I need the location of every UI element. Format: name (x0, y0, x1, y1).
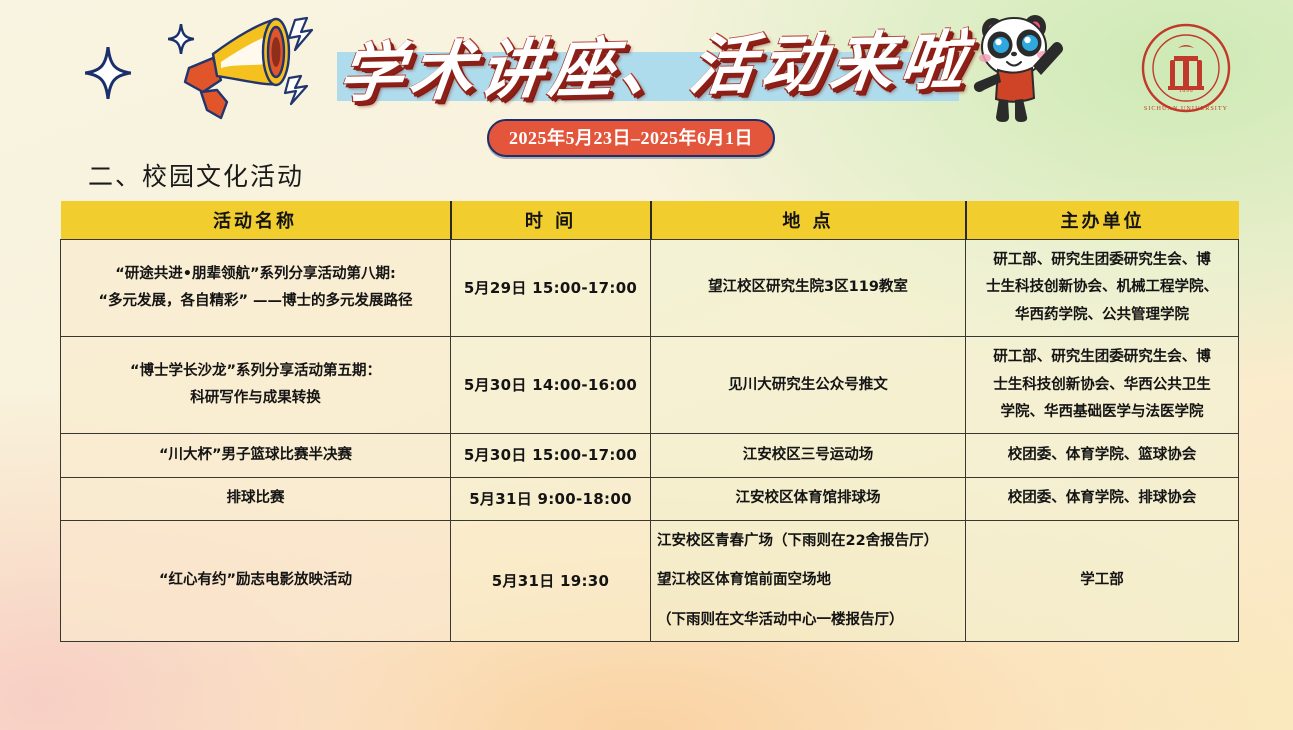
megaphone-icon (155, 6, 345, 126)
table-head: 活动名称 时 间 地 点 主办单位 (61, 201, 1239, 240)
activity-table-wrapper: 活动名称 时 间 地 点 主办单位 “研途共进•朋辈领航”系列分享活动第八期:“… (60, 201, 1238, 642)
activity-table: 活动名称 时 间 地 点 主办单位 “研途共进•朋辈领航”系列分享活动第八期:“… (60, 201, 1239, 642)
cell-activity-name: “川大杯”男子篮球比赛半决赛 (61, 434, 451, 477)
cell-organizer: 研工部、研究生团委研究生会、博士生科技创新协会、机械工程学院、华西药学院、公共管… (966, 240, 1239, 337)
column-header-activity-name: 活动名称 (61, 201, 451, 240)
poster-title: 学术讲座、活动来啦 (340, 22, 960, 114)
column-header-location: 地 点 (651, 201, 966, 240)
poster-page: 1896 SICHUAN UNIVERSITY 学术讲座、活动来啦 2025年5… (0, 0, 1293, 730)
cell-organizer: 校团委、体育学院、排球协会 (966, 477, 1239, 520)
table-body: “研途共进•朋辈领航”系列分享活动第八期:“多元发展，各自精彩” ——博士的多元… (61, 240, 1239, 642)
date-range-badge: 2025年5月23日–2025年6月1日 (487, 119, 775, 157)
table-row: 排球比赛5月31日 9:00-18:00江安校区体育馆排球场校团委、体育学院、排… (61, 477, 1239, 520)
cell-activity-name: “博士学长沙龙”系列分享活动第五期：科研写作与成果转换 (61, 337, 451, 434)
cell-activity-name: “研途共进•朋辈领航”系列分享活动第八期:“多元发展，各自精彩” ——博士的多元… (61, 240, 451, 337)
poster-title-text: 学术讲座、活动来啦 (334, 16, 967, 121)
cell-time: 5月30日 15:00-17:00 (451, 434, 651, 477)
cell-organizer: 校团委、体育学院、篮球协会 (966, 434, 1239, 477)
table-row: “川大杯”男子篮球比赛半决赛5月30日 15:00-17:00江安校区三号运动场… (61, 434, 1239, 477)
cell-organizer: 研工部、研究生团委研究生会、博士生科技创新协会、华西公共卫生学院、华西基础医学与… (966, 337, 1239, 434)
table-row: “博士学长沙龙”系列分享活动第五期：科研写作与成果转换5月30日 14:00-1… (61, 337, 1239, 434)
sichuan-university-logo: 1896 SICHUAN UNIVERSITY (1140, 22, 1232, 114)
table-row: “红心有约”励志电影放映活动5月31日 19:30江安校区青春广场（下雨则在22… (61, 520, 1239, 641)
column-header-time: 时 间 (451, 201, 651, 240)
table-header-row: 活动名称 时 间 地 点 主办单位 (61, 201, 1239, 240)
cell-location: 望江校区研究生院3区119教室 (651, 240, 966, 337)
column-header-organizer: 主办单位 (966, 201, 1239, 240)
cell-time: 5月31日 19:30 (451, 520, 651, 641)
cell-time: 5月29日 15:00-17:00 (451, 240, 651, 337)
svg-text:SICHUAN UNIVERSITY: SICHUAN UNIVERSITY (1144, 105, 1228, 112)
cell-activity-name: 排球比赛 (61, 477, 451, 520)
sparkle-star-icon (85, 47, 131, 99)
cell-location: 江安校区体育馆排球场 (651, 477, 966, 520)
cell-time: 5月30日 14:00-16:00 (451, 337, 651, 434)
cell-location: 见川大研究生公众号推文 (651, 337, 966, 434)
cell-location: 江安校区三号运动场 (651, 434, 966, 477)
cell-organizer: 学工部 (966, 520, 1239, 641)
cell-activity-name: “红心有约”励志电影放映活动 (61, 520, 451, 641)
cell-location: 江安校区青春广场（下雨则在22舍报告厅）望江校区体育馆前面空场地（下雨则在文华活… (651, 520, 966, 641)
cell-time: 5月31日 9:00-18:00 (451, 477, 651, 520)
section-heading: 二、校园文化活动 (88, 157, 304, 193)
table-row: “研途共进•朋辈领航”系列分享活动第八期:“多元发展，各自精彩” ——博士的多元… (61, 240, 1239, 337)
svg-text:1896: 1896 (1179, 88, 1193, 94)
panda-mascot-icon (963, 2, 1078, 124)
